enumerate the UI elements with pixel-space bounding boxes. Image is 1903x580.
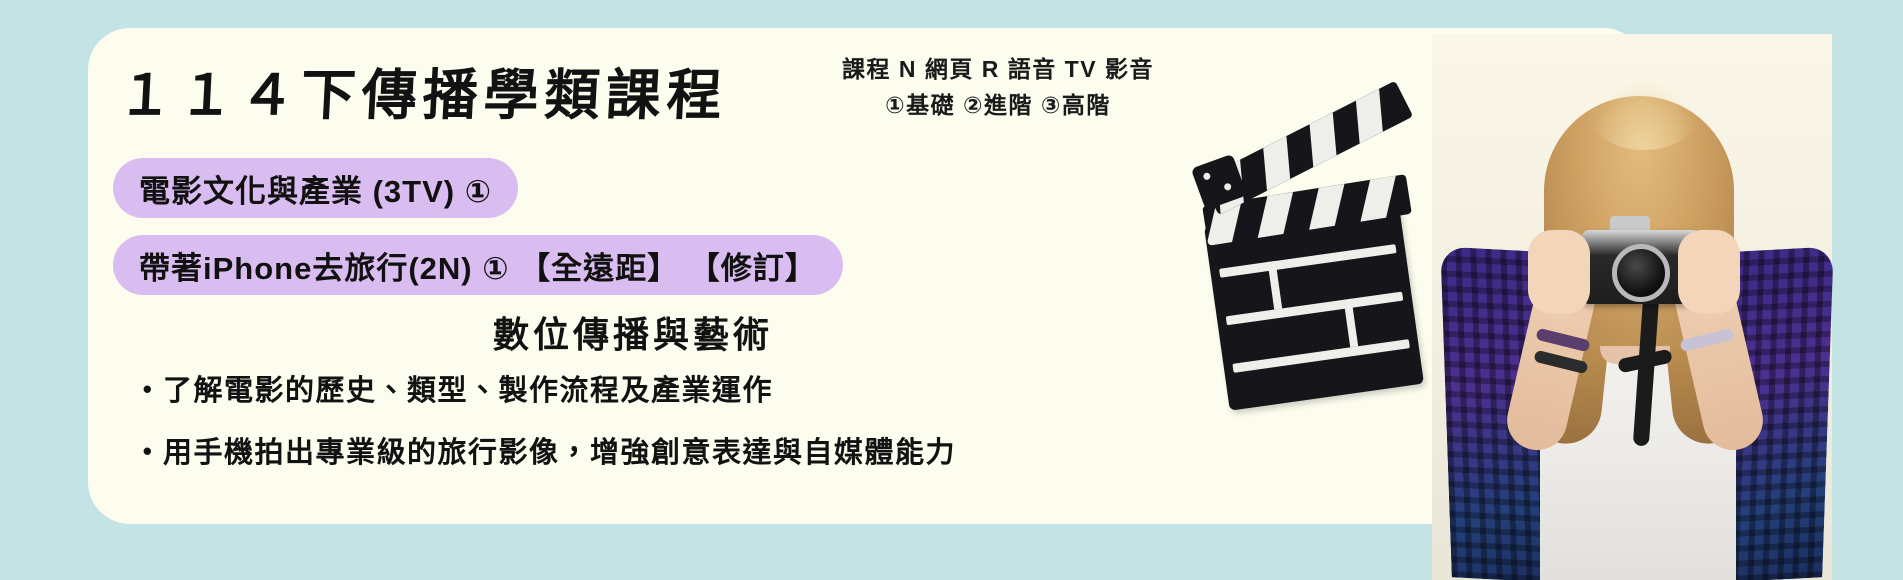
hair-wisp — [1590, 80, 1698, 150]
hand-left — [1528, 230, 1590, 314]
page-title: １１４下傳播學類課程 — [116, 50, 730, 130]
bullet-dot-icon: • — [133, 373, 163, 406]
course-pill-iphone-travel[interactable]: 帶著iPhone去旅行(2N) ① 【全遠距】 【修訂】 — [113, 235, 843, 295]
list-item-label: 用手機拍出專業級的旅行影像，增強創意表達與自媒體能力 — [163, 435, 956, 471]
section-subtitle: 數位傳播與藝術 — [88, 306, 1178, 358]
bullet-dot-icon: • — [133, 435, 163, 468]
photographer-photo — [1432, 34, 1832, 580]
course-banner: １１４下傳播學類課程 課程 N 網頁 R 語音 TV 影音 ①基礎 ②進階 ③高… — [0, 0, 1903, 580]
legend-block: 課程 N 網頁 R 語音 TV 影音 ①基礎 ②進階 ③高階 — [788, 52, 1208, 123]
course-pill-film-culture[interactable]: 電影文化與產業 (3TV) ① — [113, 158, 518, 218]
clapperboard-icon — [1190, 108, 1440, 398]
legend-line-levels: ①基礎 ②進階 ③高階 — [788, 88, 1208, 124]
list-item: • 了解電影的歷史、類型、製作流程及產業運作 — [133, 373, 1233, 409]
camera-lens — [1612, 244, 1670, 302]
photo-collage — [1180, 0, 1903, 580]
objectives-list: • 了解電影的歷史、類型、製作流程及產業運作 • 用手機拍出專業級的旅行影像，增… — [133, 373, 1233, 498]
legend-line-codes: 課程 N 網頁 R 語音 TV 影音 — [788, 52, 1208, 88]
list-item: • 用手機拍出專業級的旅行影像，增強創意表達與自媒體能力 — [133, 435, 1233, 471]
list-item-label: 了解電影的歷史、類型、製作流程及產業運作 — [163, 373, 773, 409]
hand-right — [1678, 230, 1740, 314]
